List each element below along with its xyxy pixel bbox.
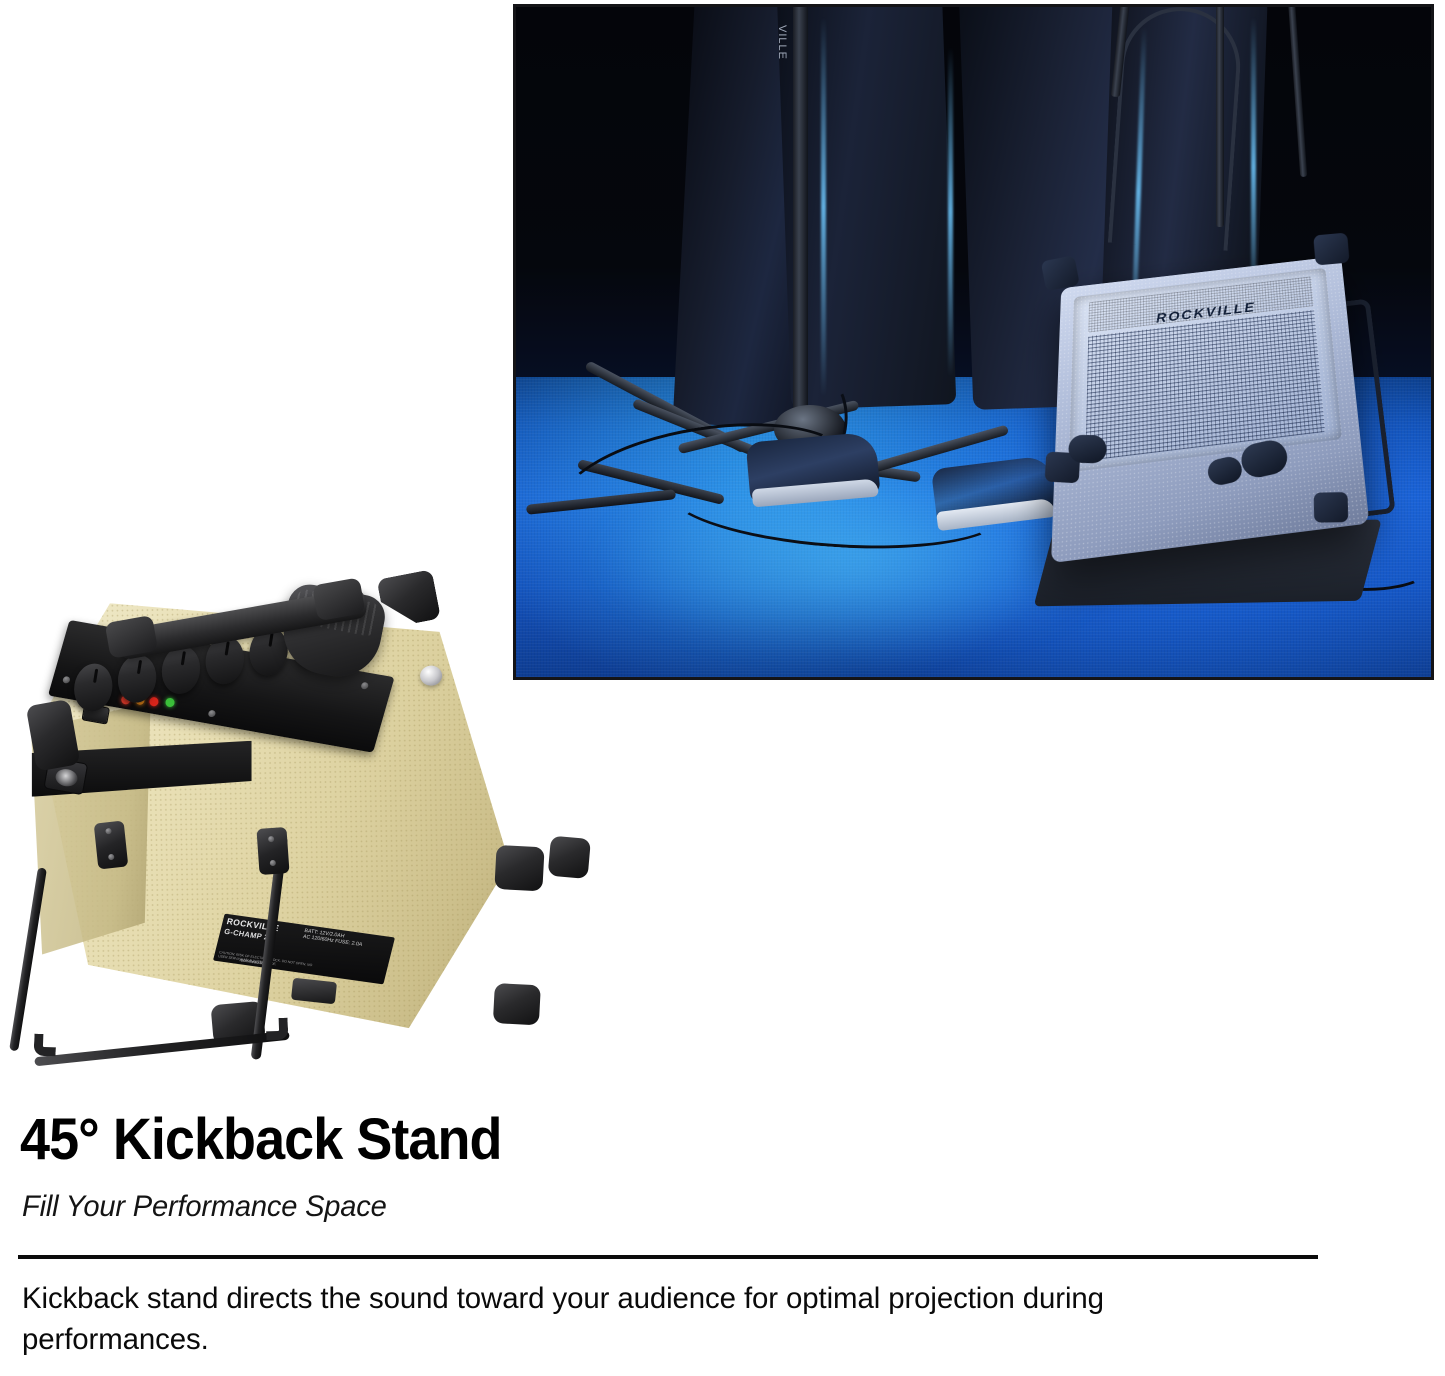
stage-performance-photo: VILLE ROCKVILLE: [513, 4, 1434, 680]
mic-stand-brand-label: VILLE: [776, 25, 788, 49]
bracket-screw: [108, 854, 115, 861]
bracket-screw: [105, 828, 112, 835]
amp-gold-grille-band: [1088, 276, 1313, 332]
corner-protector: [377, 569, 442, 629]
amp-corner-protector: [1314, 492, 1349, 523]
amp-brand-logo: ROCKVILLE: [1144, 299, 1268, 328]
led-ready: [165, 697, 175, 707]
corner-protector: [493, 983, 541, 1025]
mic-stand-pole: [1216, 4, 1224, 227]
amp-knob: [1068, 435, 1106, 464]
stand-mount-bracket: [256, 827, 289, 875]
amp-speaker-grille: [1085, 310, 1325, 461]
stage-amplifier: ROCKVILLE: [1047, 214, 1395, 581]
amp-front-face: ROCKVILLE: [1069, 268, 1342, 472]
kickback-wire-stand: [28, 858, 318, 1058]
rim-light: [821, 17, 826, 397]
stand-wire-bend: [266, 1018, 289, 1041]
feature-subheadline: Fill Your Performance Space: [22, 1189, 387, 1225]
corner-protector: [494, 845, 544, 891]
performer-shoe: [746, 431, 881, 504]
divider-rule: [18, 1255, 1318, 1259]
panel-screw: [62, 676, 71, 684]
led-clip: [149, 696, 159, 706]
stand-wire-bend: [34, 1034, 57, 1057]
bracket-screw: [270, 860, 276, 866]
corner-protector: [548, 836, 591, 879]
feature-headline: 45° Kickback Stand: [20, 1108, 502, 1172]
rim-light: [948, 47, 953, 377]
bracket-screw: [268, 836, 274, 842]
feature-card: VILLE ROCKVILLE: [0, 0, 1445, 1376]
feature-description: Kickback stand directs the sound toward …: [22, 1278, 1286, 1360]
amp-corner-protector: [1041, 255, 1080, 291]
amp-corner-protector: [1313, 233, 1349, 266]
panel-screw: [360, 682, 369, 690]
stand-mount-bracket: [94, 821, 129, 870]
